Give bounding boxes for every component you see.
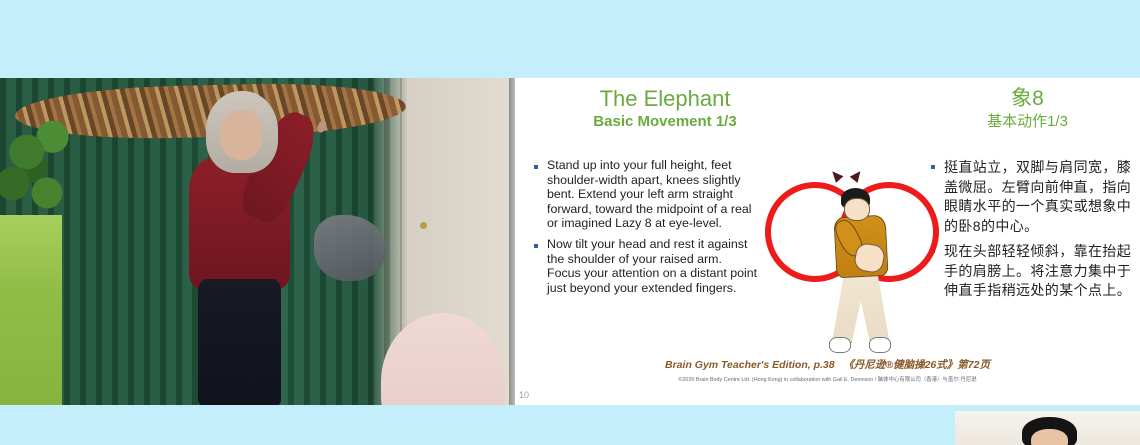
slide-footer: Brain Gym Teacher's Edition, p.38 《丹尼逊®健… [515,357,1140,383]
header-chinese: 象8 基本动作1/3 [920,86,1135,132]
slide-subtitle-en: Basic Movement 1/3 [515,112,815,132]
shared-slide[interactable]: The Elephant Basic Movement 1/3 象8 基本动作1… [515,78,1140,405]
lazy-eight-elephant-illustration [747,160,932,360]
green-table [0,215,62,405]
footer-copyright: ©2026 Brain Body Centre Ltd. (Hong Kong)… [515,375,1140,383]
slide-title-zh: 象8 [920,86,1135,112]
potted-plant [0,111,82,229]
slide-subtitle-zh: 基本动作1/3 [920,112,1135,132]
bullet-en-2: Now tilt your head and rest it against t… [533,237,758,295]
illustrated-figure [819,188,899,353]
presenter-figure [170,91,309,405]
arrow-right-icon [850,168,865,183]
participant-video-thumbnail[interactable] [955,411,1140,445]
bullet-zh-2: 现在头部轻轻倾斜，靠在抬起手的肩膀上。将注意力集中于伸直手指稍远处的某个点上。 [930,242,1135,301]
slide-headers: The Elephant Basic Movement 1/3 象8 基本动作1… [515,86,1140,146]
arrow-left-icon [829,168,844,183]
bullet-zh-1: 挺直站立，双脚与肩同宽，膝盖微屈。左臂向前伸直，指向眼睛水平的一个真实或想象中的… [930,158,1135,236]
instructions-english: Stand up into your full height, feet sho… [533,158,758,301]
thumb-participant-face [1031,429,1068,445]
slide-page-number: 10 [519,390,529,400]
bullet-en-1: Stand up into your full height, feet sho… [533,158,758,231]
video-meeting-stage: The Elephant Basic Movement 1/3 象8 基本动作1… [0,0,1140,445]
footer-citation-zh: 《丹尼逊®健脑操26式》第72页 [843,359,990,371]
instructions-chinese: 挺直站立，双脚与肩同宽，膝盖微屈。左臂向前伸直，指向眼睛水平的一个真实或想象中的… [930,158,1135,307]
presenter-video-feed[interactable] [0,78,515,405]
slide-title-en: The Elephant [515,86,815,112]
header-english: The Elephant Basic Movement 1/3 [515,86,815,132]
footer-citation-en: Brain Gym Teacher's Edition, p.38 [665,359,835,371]
